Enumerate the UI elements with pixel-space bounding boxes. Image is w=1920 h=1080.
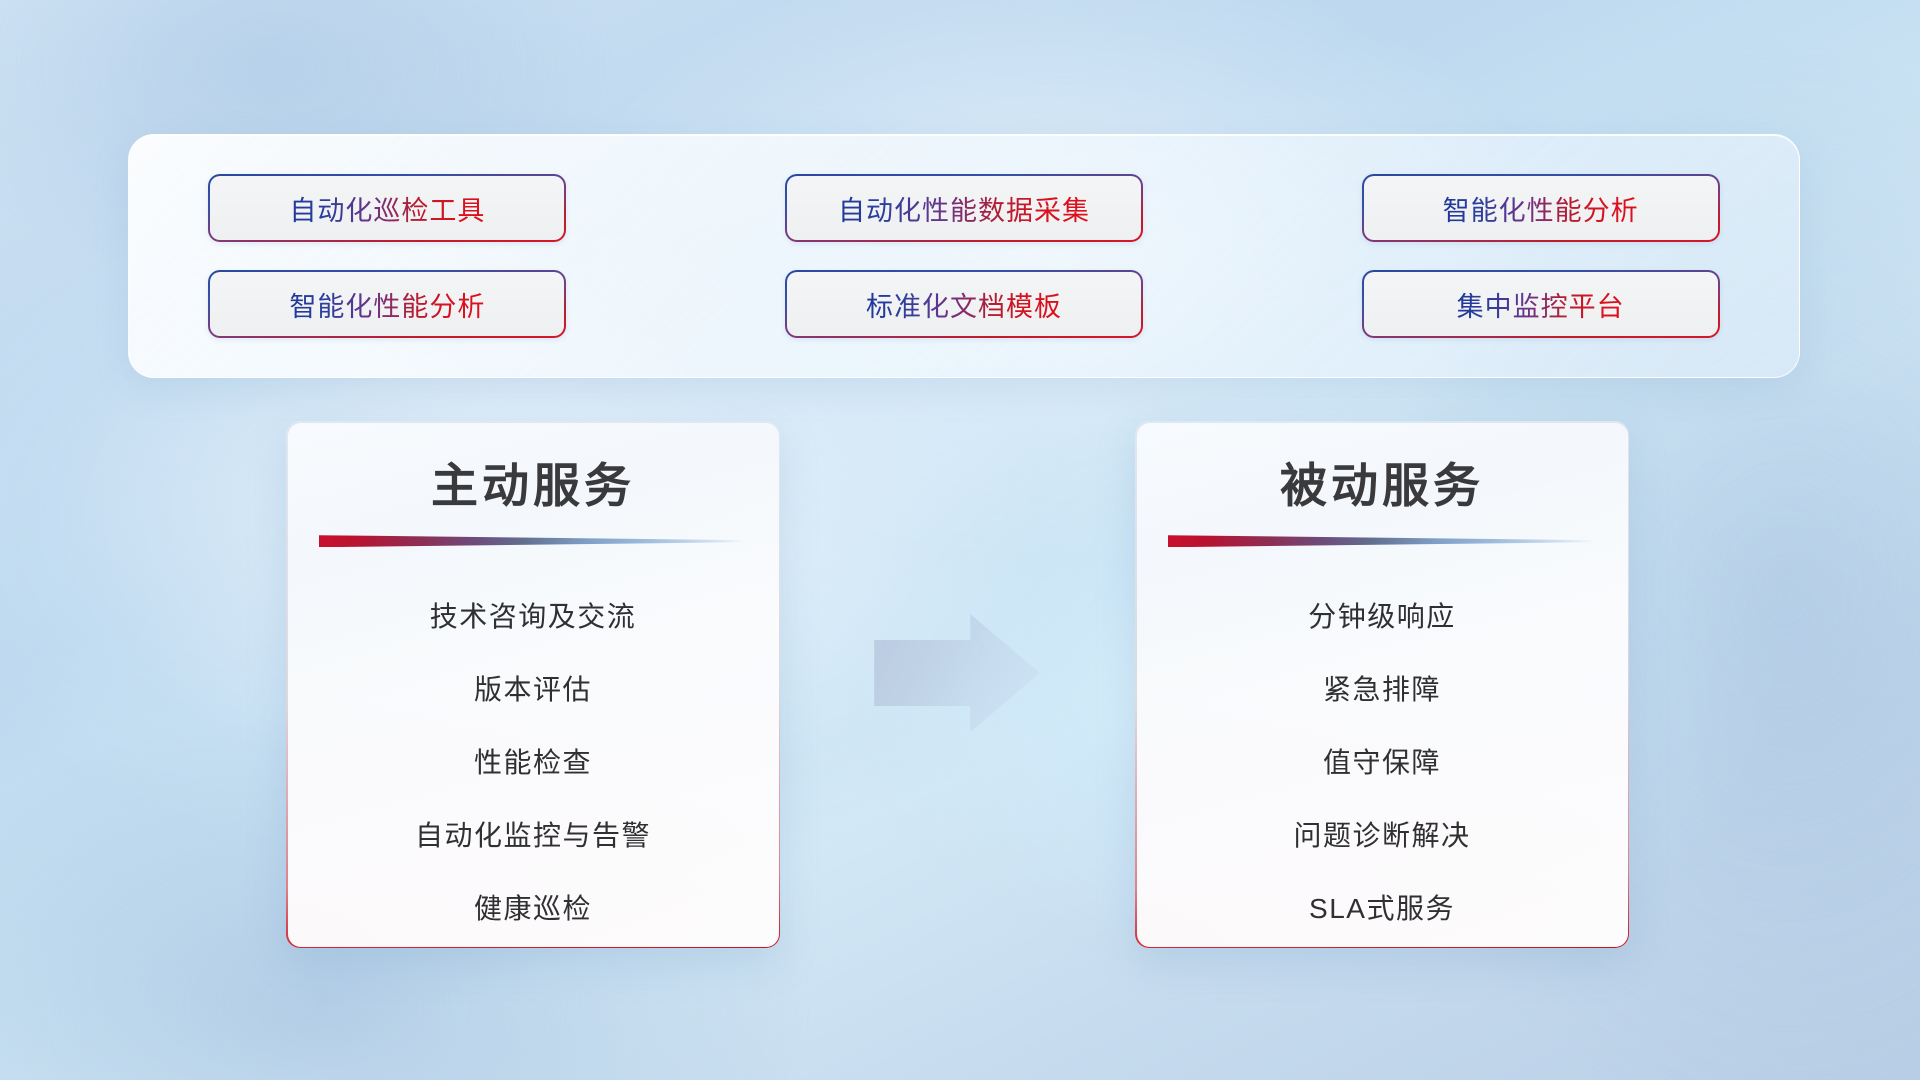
list-item: 分钟级响应 (1308, 580, 1456, 653)
capability-pill-intelligent-performance-analysis-bottom[interactable]: 智能化性能分析 (208, 270, 566, 338)
list-item: 性能检查 (474, 726, 592, 799)
pill-surface: 集中监控平台 (1364, 272, 1718, 336)
card-title: 主动服务 (431, 460, 635, 512)
slide-canvas: 自动化巡检工具 自动化性能数据采集 智能化性能分析 智能化性能分析 (0, 0, 1920, 1080)
card-item-list: 分钟级响应 紧急排障 值守保障 问题诊断解决 SLA式服务 (1137, 580, 1628, 945)
service-card-reactive[interactable]: 被动服务 分钟级响应 紧急排障 值守保障 问题诊断解决 SLA式服务 (1135, 421, 1629, 948)
card-surface: 被动服务 分钟级响应 紧急排障 值守保障 问题诊断解决 SLA式服务 (1137, 423, 1628, 947)
card-item-list: 技术咨询及交流 版本评估 性能检查 自动化监控与告警 健康巡检 (288, 580, 779, 945)
list-item: SLA式服务 (1309, 872, 1455, 945)
capability-pill-intelligent-performance-analysis-top[interactable]: 智能化性能分析 (1362, 174, 1720, 242)
list-item: 版本评估 (474, 653, 592, 726)
capability-panel: 自动化巡检工具 自动化性能数据采集 智能化性能分析 智能化性能分析 (128, 134, 1800, 378)
flow-arrow-right-icon (874, 614, 1040, 732)
title-underline-accent (319, 535, 747, 547)
capability-pill-standardized-document-template[interactable]: 标准化文档模板 (785, 270, 1143, 338)
capability-pill-automated-performance-data-collection[interactable]: 自动化性能数据采集 (785, 174, 1143, 242)
card-title: 被动服务 (1280, 460, 1484, 512)
pill-surface: 智能化性能分析 (210, 272, 564, 336)
arrow-glyph (874, 614, 1040, 732)
list-item: 值守保障 (1323, 726, 1441, 799)
list-item: 自动化监控与告警 (415, 799, 651, 872)
capability-pill-centralized-monitoring-platform[interactable]: 集中监控平台 (1362, 270, 1720, 338)
list-item: 健康巡检 (474, 872, 592, 945)
capability-pill-automated-inspection-tool[interactable]: 自动化巡检工具 (208, 174, 566, 242)
pill-label: 智能化性能分析 (1443, 189, 1639, 228)
list-item: 技术咨询及交流 (430, 580, 637, 653)
pill-surface: 标准化文档模板 (787, 272, 1141, 336)
list-item: 紧急排障 (1323, 653, 1441, 726)
service-card-proactive[interactable]: 主动服务 技术咨询及交流 版本评估 性能检查 自动化监控与告警 健康巡检 (286, 421, 780, 948)
pill-label: 自动化性能数据采集 (838, 189, 1090, 228)
list-item: 问题诊断解决 (1293, 799, 1470, 872)
card-surface: 主动服务 技术咨询及交流 版本评估 性能检查 自动化监控与告警 健康巡检 (288, 423, 779, 947)
capability-pill-grid: 自动化巡检工具 自动化性能数据采集 智能化性能分析 智能化性能分析 (129, 135, 1799, 377)
pill-surface: 智能化性能分析 (1364, 176, 1718, 240)
pill-label: 智能化性能分析 (289, 285, 485, 324)
pill-label: 标准化文档模板 (866, 285, 1062, 324)
pill-surface: 自动化巡检工具 (210, 176, 564, 240)
pill-surface: 自动化性能数据采集 (787, 176, 1141, 240)
pill-label: 自动化巡检工具 (289, 189, 485, 228)
pill-label: 集中监控平台 (1457, 285, 1625, 324)
title-underline-accent (1168, 535, 1596, 547)
